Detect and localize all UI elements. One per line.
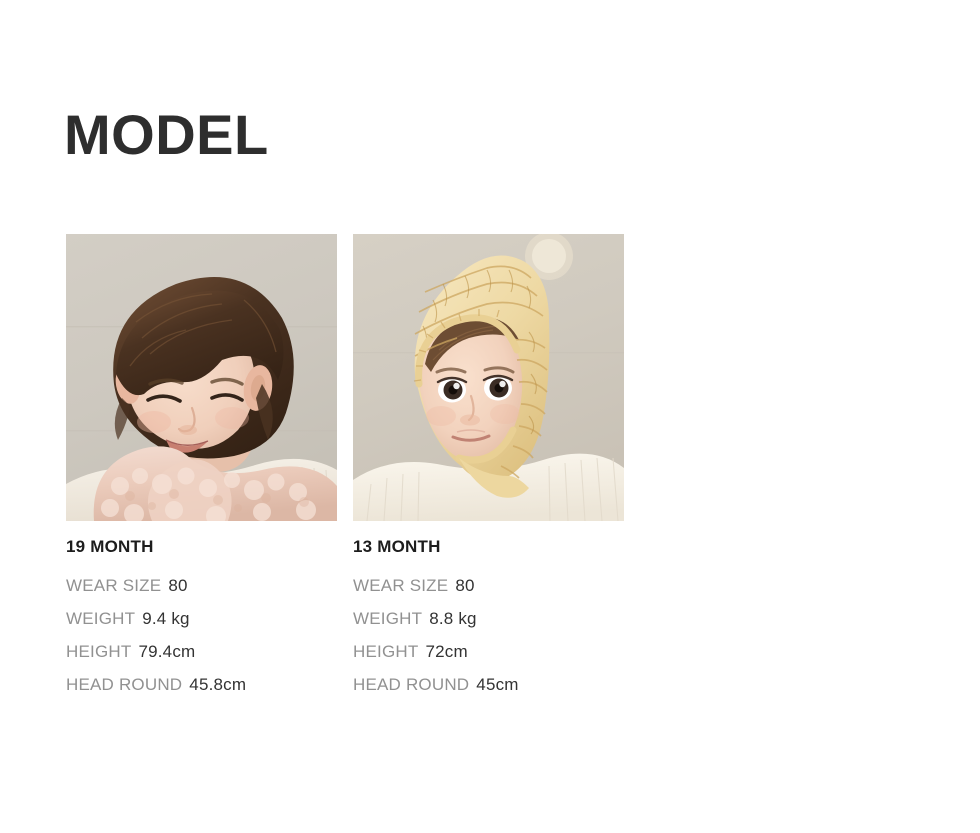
spec-value: 79.4cm xyxy=(138,642,195,661)
spec-row-wear-size: WEAR SIZE80 xyxy=(66,569,337,602)
spec-row-weight: WEIGHT8.8 kg xyxy=(353,602,624,635)
spec-value: 45.8cm xyxy=(189,675,246,694)
model-age: 13 MONTH xyxy=(353,536,624,558)
model-spec-block: 13 MONTH WEAR SIZE80 WEIGHT8.8 kg HEIGHT… xyxy=(353,521,624,701)
spec-row-head-round: HEAD ROUND45cm xyxy=(353,668,624,701)
spec-label: HEIGHT xyxy=(353,642,418,661)
baby-yellow-bonnet-illustration xyxy=(353,234,624,521)
spec-value: 80 xyxy=(455,576,474,595)
model-card: 13 MONTH WEAR SIZE80 WEIGHT8.8 kg HEIGHT… xyxy=(353,234,624,701)
model-section-page: MODEL xyxy=(0,0,980,833)
page-title: MODEL xyxy=(64,103,269,167)
spec-label: WEAR SIZE xyxy=(66,576,161,595)
spec-row-wear-size: WEAR SIZE80 xyxy=(353,569,624,602)
toddler-pink-snood-illustration xyxy=(66,234,337,521)
model-spec-block: 19 MONTH WEAR SIZE80 WEIGHT9.4 kg HEIGHT… xyxy=(66,521,337,701)
model-photo-13-month[interactable] xyxy=(353,234,624,521)
model-card-grid: 19 MONTH WEAR SIZE80 WEIGHT9.4 kg HEIGHT… xyxy=(66,234,624,701)
model-photo-19-month[interactable] xyxy=(66,234,337,521)
spec-row-weight: WEIGHT9.4 kg xyxy=(66,602,337,635)
spec-value: 45cm xyxy=(476,675,518,694)
spec-label: WEAR SIZE xyxy=(353,576,448,595)
spec-label: WEIGHT xyxy=(353,609,422,628)
spec-label: HEAD ROUND xyxy=(353,675,469,694)
spec-row-height: HEIGHT72cm xyxy=(353,635,624,668)
spec-value: 9.4 kg xyxy=(142,609,190,628)
spec-label: HEAD ROUND xyxy=(66,675,182,694)
spec-row-head-round: HEAD ROUND45.8cm xyxy=(66,668,337,701)
spec-label: WEIGHT xyxy=(66,609,135,628)
spec-label: HEIGHT xyxy=(66,642,131,661)
model-card: 19 MONTH WEAR SIZE80 WEIGHT9.4 kg HEIGHT… xyxy=(66,234,337,701)
spec-value: 72cm xyxy=(425,642,467,661)
spec-row-height: HEIGHT79.4cm xyxy=(66,635,337,668)
model-age: 19 MONTH xyxy=(66,536,337,558)
spec-value: 8.8 kg xyxy=(429,609,477,628)
spec-value: 80 xyxy=(168,576,187,595)
